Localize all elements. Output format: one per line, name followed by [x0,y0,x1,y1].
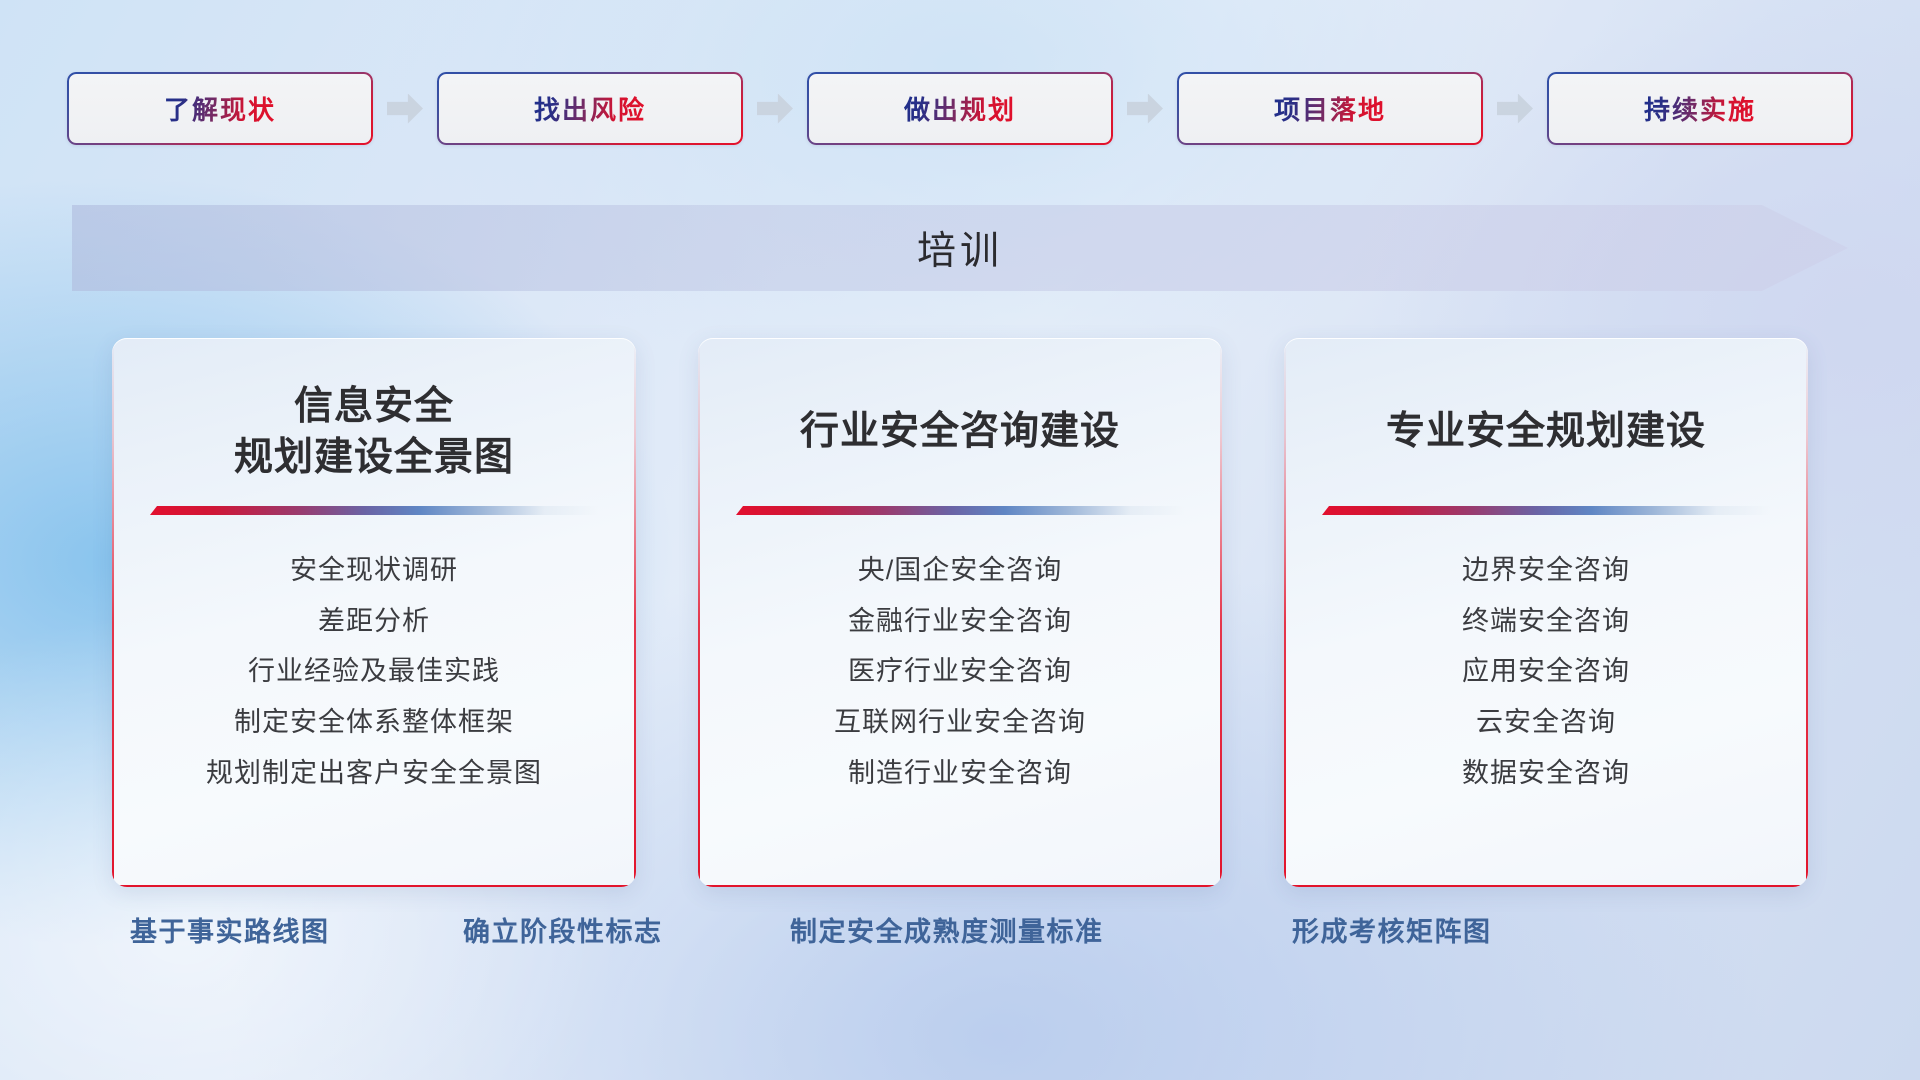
caption-4: 形成考核矩阵图 [1292,910,1492,949]
list-item: 金融行业安全咨询 [848,600,1072,644]
list-item: 制定安全体系整体框架 [234,701,514,745]
caption-1: 基于事实路线图 [130,910,330,949]
arrow-right-icon [1497,94,1533,124]
list-item: 行业经验及最佳实践 [248,650,500,694]
arrow-right-icon [387,94,423,124]
training-banner: 培训 [72,205,1848,291]
card-title-2: 行业安全咨询建设 [800,380,1120,484]
step-flow: 了解现状 找出风险 做出规划 项目落地 持续实施 [0,72,1920,145]
step-box-2[interactable]: 找出风险 [437,72,743,145]
list-item: 差距分析 [318,600,430,644]
banner-title: 培训 [917,220,1003,276]
card-divider-1 [150,506,598,515]
caption-2: 确立阶段性标志 [463,910,663,949]
step-label-5: 持续实施 [1644,90,1756,127]
card-title-3: 专业安全规划建设 [1386,380,1706,484]
list-item: 应用安全咨询 [1462,650,1630,694]
step-label-2: 找出风险 [534,90,646,127]
list-item: 安全现状调研 [290,549,458,593]
card-list-3: 边界安全咨询 终端安全咨询 应用安全咨询 云安全咨询 数据安全咨询 [1310,549,1782,796]
list-item: 云安全咨询 [1476,701,1616,745]
card-row: 信息安全 规划建设全景图 安全现状调研 差距分析 行业经验及最佳实践 制定安全体… [0,338,1920,887]
card-industry-consulting[interactable]: 行业安全咨询建设 央/国企安全咨询 金融行业安全咨询 医疗行业安全咨询 互联网行… [698,338,1222,887]
step-label-3: 做出规划 [904,90,1016,127]
caption-3: 制定安全成熟度测量标准 [790,910,1104,949]
step-label-4: 项目落地 [1274,90,1386,127]
list-item: 制造行业安全咨询 [848,752,1072,796]
card-title-1-line1: 信息安全 [294,385,454,428]
list-item: 医疗行业安全咨询 [848,650,1072,694]
list-item: 数据安全咨询 [1462,752,1630,796]
list-item: 边界安全咨询 [1462,549,1630,593]
card-bottom-edge [1284,885,1808,887]
step-box-3[interactable]: 做出规划 [807,72,1113,145]
list-item: 终端安全咨询 [1462,600,1630,644]
arrow-right-icon [1127,94,1163,124]
card-divider-3 [1322,506,1770,515]
step-box-5[interactable]: 持续实施 [1547,72,1853,145]
card-professional-planning[interactable]: 专业安全规划建设 边界安全咨询 终端安全咨询 应用安全咨询 云安全咨询 数据安全… [1284,338,1808,887]
card-list-2: 央/国企安全咨询 金融行业安全咨询 医疗行业安全咨询 互联网行业安全咨询 制造行… [724,549,1196,796]
arrow-right-icon [757,94,793,124]
card-title-3-line1: 专业安全规划建设 [1386,406,1706,457]
step-box-4[interactable]: 项目落地 [1177,72,1483,145]
step-label-1: 了解现状 [164,90,276,127]
caption-row: 基于事实路线图 确立阶段性标志 制定安全成熟度测量标准 形成考核矩阵图 [0,910,1920,970]
slide-canvas: 了解现状 找出风险 做出规划 项目落地 持续实施 培训 信息安全 规划 [0,0,1920,1080]
step-box-1[interactable]: 了解现状 [67,72,373,145]
card-title-1-line2: 规划建设全景图 [234,436,514,479]
list-item: 央/国企安全咨询 [858,549,1063,593]
card-bottom-edge [112,885,636,887]
card-bottom-edge [698,885,1222,887]
card-information-security[interactable]: 信息安全 规划建设全景图 安全现状调研 差距分析 行业经验及最佳实践 制定安全体… [112,338,636,887]
card-divider-2 [736,506,1184,515]
card-title-2-line1: 行业安全咨询建设 [800,406,1120,457]
card-list-1: 安全现状调研 差距分析 行业经验及最佳实践 制定安全体系整体框架 规划制定出客户… [138,549,610,796]
card-title-1: 信息安全 规划建设全景图 [234,380,514,484]
list-item: 互联网行业安全咨询 [834,701,1086,745]
list-item: 规划制定出客户安全全景图 [206,752,542,796]
